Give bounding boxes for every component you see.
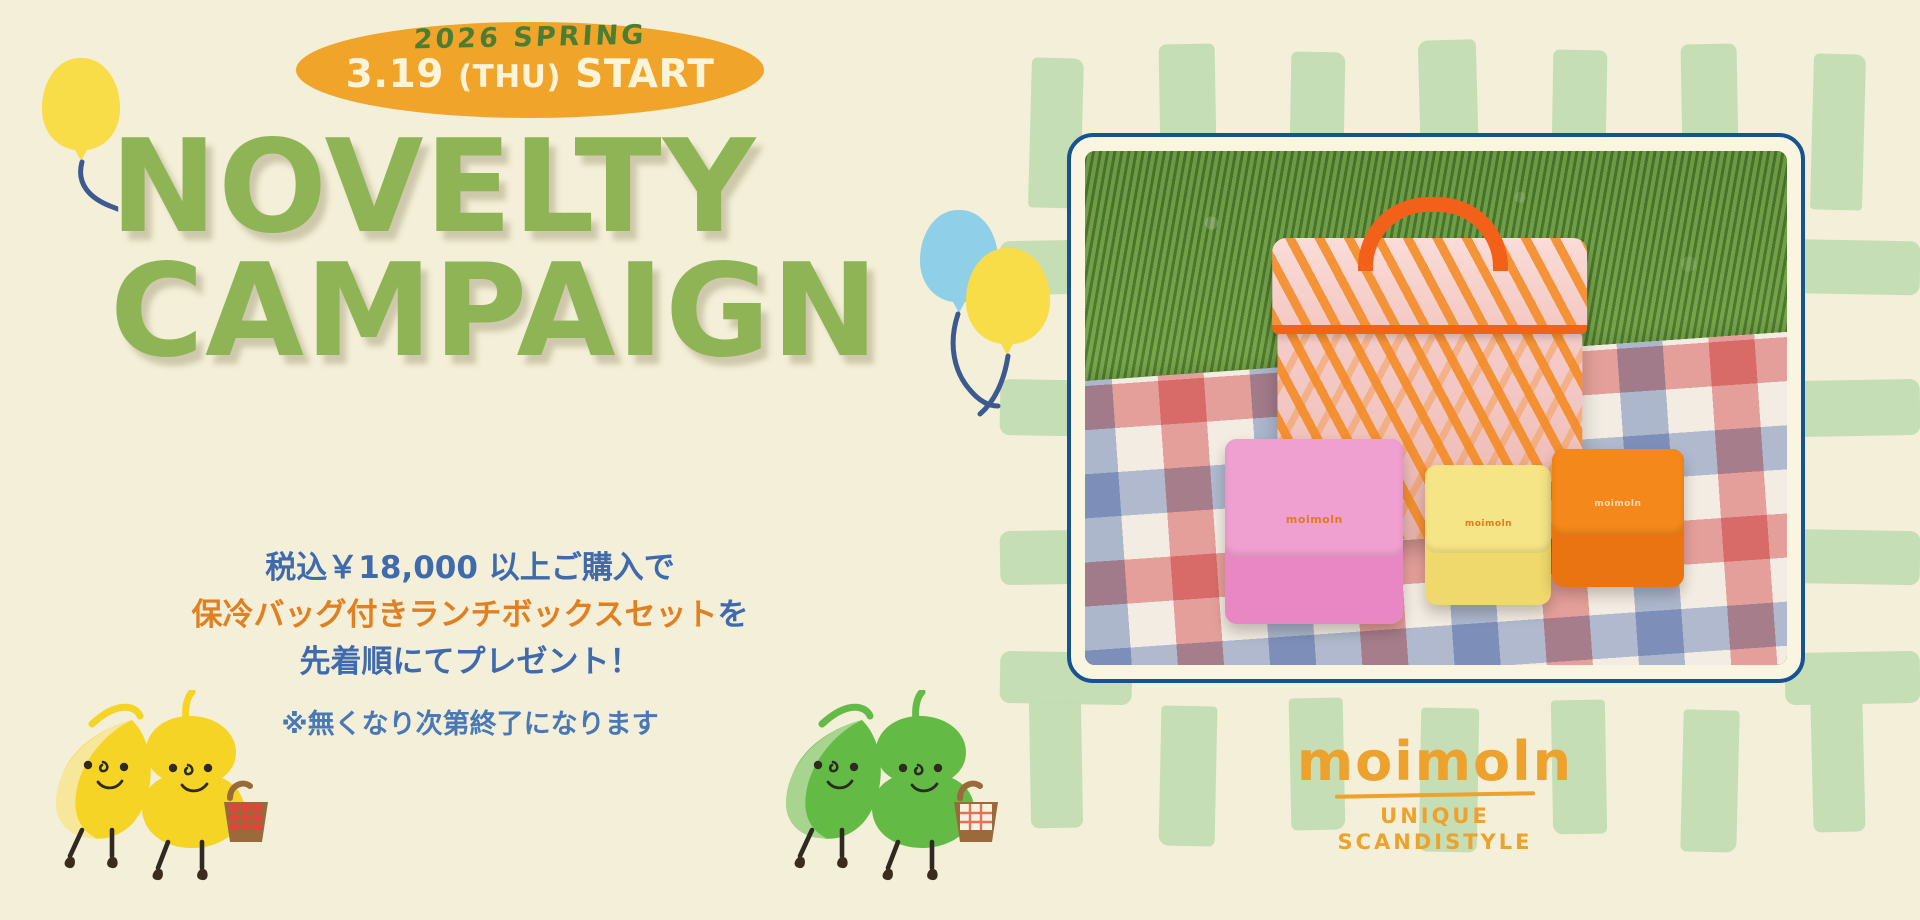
start-date-number: 3.19 bbox=[346, 52, 444, 97]
yellow-lunch-box-lid bbox=[1425, 465, 1551, 553]
pink-lunch-box: moimoln bbox=[1225, 439, 1403, 624]
orange-lunch-box-brand: moimoln bbox=[1552, 499, 1684, 509]
page-title: NOVELTY CAMPAIGN bbox=[110, 128, 879, 373]
copy-line-3: 先着順にてプレゼント！ bbox=[110, 639, 830, 686]
start-word: START bbox=[575, 52, 714, 97]
copy-line-2: 保冷バッグ付きランチボックスセットを bbox=[110, 592, 830, 639]
yellow-leaf-character bbox=[56, 707, 151, 868]
product-photo: moimoln moimoln moimoln bbox=[1085, 151, 1787, 665]
orange-lunch-box: moimoln bbox=[1552, 449, 1684, 587]
picnic-basket-red bbox=[224, 784, 268, 842]
brand-logo-wordmark: moimoln bbox=[1295, 735, 1575, 789]
brand-logo-tagline-2: SCANDISTYLE bbox=[1295, 829, 1575, 855]
copy-line-2-highlight: 保冷バッグ付きランチボックスセット bbox=[191, 597, 717, 633]
balloon-bulb-icon bbox=[966, 248, 1050, 344]
orange-lunch-box-lid bbox=[1552, 449, 1684, 535]
pink-lunch-box-lid bbox=[1225, 439, 1403, 557]
novelty-campaign-banner: 2026 SPRING 3.19 (THU) START NOVELTY CAM… bbox=[0, 0, 1920, 920]
headline-line-2: CAMPAIGN bbox=[110, 252, 879, 372]
yellow-round-character bbox=[142, 692, 268, 880]
yellow-lunch-box: moimoln bbox=[1425, 465, 1551, 605]
green-round-character bbox=[872, 692, 998, 880]
copy-line-1: 税込￥18,000 以上ご購入で bbox=[110, 545, 830, 592]
yellow-lunch-box-brand: moimoln bbox=[1425, 519, 1551, 529]
headline-line-1: NOVELTY bbox=[110, 128, 879, 248]
copy-line-2-suffix: を bbox=[718, 597, 749, 633]
yellow-characters-illustration bbox=[40, 690, 300, 905]
start-date-label: 3.19 (THU) START bbox=[296, 52, 764, 97]
green-leaf-character bbox=[786, 707, 881, 868]
brand-logo: moimoln UNIQUE SCANDISTYLE bbox=[1295, 735, 1575, 856]
brand-logo-tagline-1: UNIQUE bbox=[1295, 803, 1575, 829]
green-characters-illustration bbox=[770, 690, 1030, 905]
pink-lunch-box-brand: moimoln bbox=[1225, 513, 1403, 526]
start-day-of-week: (THU) bbox=[458, 59, 561, 95]
product-photo-frame: moimoln moimoln moimoln bbox=[1067, 133, 1805, 683]
picnic-basket-white bbox=[954, 784, 998, 842]
balloon-bulb-icon bbox=[42, 58, 120, 150]
